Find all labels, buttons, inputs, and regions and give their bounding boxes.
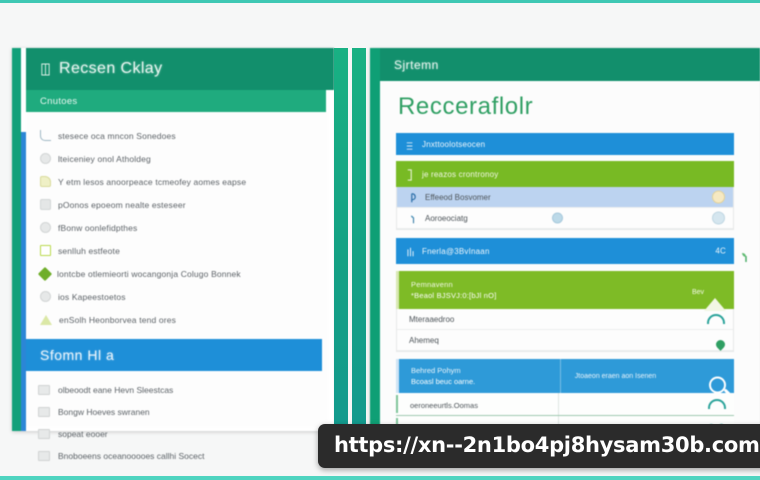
table-row[interactable]: Aoroeociatg xyxy=(397,208,733,229)
table-header-right: Jtoaeon eraen aon Isenen xyxy=(560,359,717,393)
list-item[interactable]: lontcbe otlemieorti wocangonja Colugo Bo… xyxy=(26,262,328,285)
card-rows: Effeeod Bosvomer Aoroeociatg xyxy=(396,187,734,230)
table-header-line1: Behred Pohym xyxy=(411,366,560,375)
panel-divider-bar-2 xyxy=(352,48,366,431)
green-banner-right: Bev xyxy=(692,281,726,299)
right-panel: Sjrtemn Recceraflolr Jnxttoolotseocen xyxy=(370,48,760,431)
magnifier-icon[interactable] xyxy=(709,376,726,393)
list-item[interactable]: Bnoboeens oceanooooes callhi Socect xyxy=(26,445,328,467)
round-icon xyxy=(40,291,51,302)
list-item[interactable]: lteiceniey onol Atholdeg xyxy=(26,147,328,170)
list-item[interactable]: sopeat eooer xyxy=(26,423,328,445)
banner-rows: Mteraaedroo Ahemeq xyxy=(396,309,734,352)
list-item[interactable]: ios Kapeestoetos xyxy=(26,285,328,308)
square-icon xyxy=(38,451,50,461)
left-panel-green-rail xyxy=(12,48,21,431)
blue-bar[interactable]: Fnerla@3BvInaan 4C xyxy=(396,238,734,264)
grey-icon xyxy=(40,199,51,210)
table-header-left: Behred Pohym Bcoasl beuc oarne. xyxy=(399,366,560,386)
table-cell: oeroneeurtls.Oomas xyxy=(396,395,558,413)
url-banner: https://xn--2n1bo4pj8hysam30b.com xyxy=(318,424,760,468)
bracket-icon xyxy=(406,168,415,180)
info-bar[interactable]: Jnxttoolotseocen xyxy=(396,133,734,155)
bars-icon xyxy=(406,245,415,257)
list-item-label: Y etm lesos anoorpeace tcmeofey aomes ea… xyxy=(58,177,246,187)
mountain-icon xyxy=(704,281,726,311)
list-item[interactable]: fBonw oonlefidpthes xyxy=(26,216,328,239)
green-bar-label: je reazos crontronoy xyxy=(422,170,498,179)
list-item-label: olbeoodt eane Hevn Sleestcas xyxy=(58,385,173,395)
right-panel-header: Sjrtemn xyxy=(380,48,760,81)
list-item-label: ios Kapeestoetos xyxy=(58,292,126,302)
table-header-right-label: Jtoaeon eraen aon Isenen xyxy=(575,373,656,380)
top-edge-accent xyxy=(0,0,760,3)
table-header-line2: Bcoasl beuc oarne. xyxy=(411,377,560,386)
panel-divider-bar-1 xyxy=(334,48,348,431)
square-icon xyxy=(38,429,50,439)
left-panel-subheader-label: Cnutoes xyxy=(40,96,77,107)
list-item-label: senlluh estfeote xyxy=(58,246,120,256)
table-header[interactable]: Behred Pohym Bcoasl beuc oarne. Jtoaeon … xyxy=(396,359,734,393)
table-row[interactable]: oeroneeurtls.Oomas xyxy=(396,393,734,416)
green-bar[interactable]: je reazos crontronoy xyxy=(396,161,734,187)
triangle-icon xyxy=(40,315,52,325)
round-icon xyxy=(40,222,51,233)
frame-icon xyxy=(40,245,51,256)
list-item[interactable]: olbeoodt eane Hevn Sleestcas xyxy=(26,379,328,401)
blue-bar-label: Fnerla@3BvInaan xyxy=(422,247,490,256)
ball-icon xyxy=(712,212,725,225)
table-row[interactable]: Mteraaedroo xyxy=(397,309,733,330)
list-item-label: enSolh Heonborvea tend ores xyxy=(59,315,176,325)
right-panel-green-rail xyxy=(370,48,380,431)
green-banner-line1: Pemnavenn xyxy=(411,280,734,289)
table-row-label: Aoroeociatg xyxy=(425,214,468,223)
table-row[interactable]: Effeeod Bosvomer xyxy=(397,187,733,208)
square-icon xyxy=(38,407,50,417)
list-item[interactable]: Bongw Hoeves swranen xyxy=(26,401,328,423)
list-item[interactable]: stesece oca mncon Sonedoes xyxy=(26,124,328,147)
arc-icon xyxy=(707,314,725,324)
url-banner-text: https://xn--2n1bo4pj8hysam30b.com xyxy=(334,433,760,457)
table-row-label: Mteraaedroo xyxy=(409,315,454,324)
right-panel-body: Recceraflolr Jnxttoolotseocen je reazos … xyxy=(380,81,760,431)
square-icon xyxy=(38,385,50,395)
list-item-label: fBonw oonlefidpthes xyxy=(58,223,137,233)
left-panel-title: Recsen Cklay xyxy=(59,60,163,78)
table-cell-label: oeroneeurtls.Oomas xyxy=(410,401,478,410)
sprout-icon xyxy=(740,250,752,262)
ball-yellow-icon xyxy=(712,191,725,204)
green-banner-line2: *Beaol BJSVJ:0:[bJl nO] xyxy=(411,291,734,300)
sprout-icon xyxy=(409,212,418,224)
pin-icon xyxy=(409,191,418,203)
list-item-label: sopeat eooer xyxy=(58,429,108,439)
list-icon xyxy=(406,138,415,150)
list-item[interactable]: pOonos epoeom nealte esteseer xyxy=(26,193,328,216)
list-item-label: Bongw Hoeves swranen xyxy=(58,407,150,417)
left-panel-body: stesece oca mncon Sonedoes lteiceniey on… xyxy=(26,112,328,427)
right-panel-header-title: Sjrtemn xyxy=(394,58,439,72)
left-panel-blue-section-header: Sfomn Hl a xyxy=(26,339,322,371)
left-panel-blue-section-label: Sfomn Hl a xyxy=(40,347,114,363)
list-item-label: lontcbe otlemieorti wocangonja Colugo Bo… xyxy=(57,269,241,279)
drop-icon xyxy=(714,338,727,351)
green-banner[interactable]: Pemnavenn *Beaol BJSVJ:0:[bJl nO] Bev xyxy=(396,271,734,309)
list-item-label: Bnoboeens oceanooooes callhi Socect xyxy=(58,451,205,461)
book-icon xyxy=(40,63,49,75)
left-panel-subheader: Cnutoes xyxy=(26,90,326,112)
table-row-label: Effeeod Bosvomer xyxy=(425,193,491,202)
left-panel-list: stesece oca mncon Sonedoes lteiceniey on… xyxy=(26,124,328,331)
yellow-icon xyxy=(40,176,51,187)
left-panel: Recsen Cklay Cnutoes stesece oca mncon S… xyxy=(12,48,334,431)
bottom-edge-accent xyxy=(0,476,760,480)
table-row[interactable]: Ahemeq xyxy=(397,330,733,351)
left-panel-list-2: olbeoodt eane Hevn Sleestcas Bongw Hoeve… xyxy=(26,371,328,467)
ball-blue-icon xyxy=(552,213,563,224)
list-item[interactable]: senlluh estfeote xyxy=(26,239,328,262)
list-item-label: lteiceniey onol Atholdeg xyxy=(58,154,151,164)
page-root: Recsen Cklay Cnutoes stesece oca mncon S… xyxy=(0,0,760,480)
list-item[interactable]: Y etm lesos anoorpeace tcmeofey aomes ea… xyxy=(26,170,328,193)
list-item-label: pOonos epoeom nealte esteseer xyxy=(58,200,186,210)
list-item-label: stesece oca mncon Sonedoes xyxy=(58,131,176,141)
table-row-label: Ahemeq xyxy=(409,336,439,345)
round-icon xyxy=(40,153,51,164)
left-panel-header: Recsen Cklay xyxy=(26,48,334,90)
right-panel-page-title: Recceraflolr xyxy=(398,93,734,121)
hook-icon xyxy=(40,130,51,141)
list-item[interactable]: enSolh Heonborvea tend ores xyxy=(26,308,328,331)
blue-bar-right-label: 4C xyxy=(715,247,726,256)
diamond-icon xyxy=(38,266,52,280)
info-bar-label: Jnxttoolotseocen xyxy=(422,140,485,149)
green-banner-right-tag: Bev xyxy=(692,289,704,296)
